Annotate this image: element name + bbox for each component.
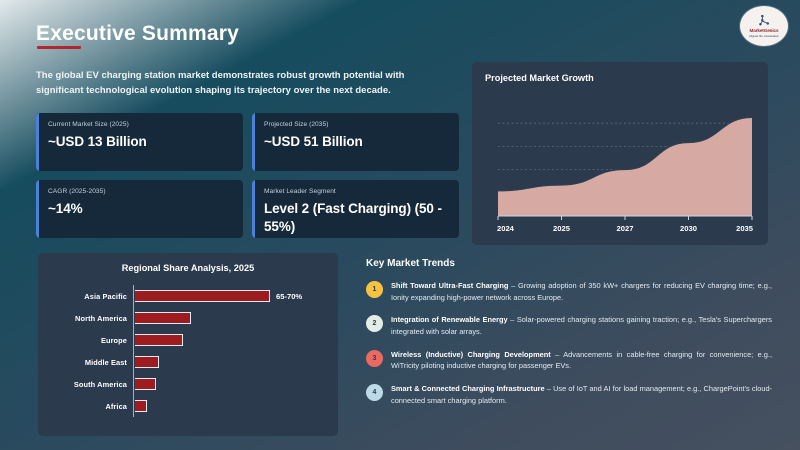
trend-description: Wireless (Inductive) Charging Developmen…: [391, 349, 776, 372]
bar-category-label: South America: [38, 380, 133, 389]
stat-label: CAGR (2025-2035): [48, 188, 233, 195]
key-market-trends: Key Market Trends 1Shift Toward Ultra-Fa…: [366, 258, 776, 418]
trend-heading: Smart & Connected Charging Infrastructur…: [391, 384, 545, 393]
stat-value: ~USD 51 Billion: [264, 133, 449, 151]
stat-label: Market Leader Segment: [264, 188, 449, 195]
bar-track: [134, 334, 338, 346]
stat-label: Projected Size (2035): [264, 121, 449, 128]
bar-fill: [135, 290, 270, 302]
page-title: Executive Summary: [36, 22, 239, 46]
trend-number-badge: 3: [366, 350, 383, 367]
stat-card-cagr: CAGR (2025-2035) ~14%: [36, 180, 243, 238]
trend-number-badge: 2: [366, 315, 383, 332]
stat-card-current-market-size: Current Market Size (2025) ~USD 13 Billi…: [36, 113, 243, 171]
bar-value-label: 65-70%: [276, 292, 302, 301]
bar-category-label: Asia Pacific: [38, 292, 133, 301]
stat-value: ~USD 13 Billion: [48, 133, 233, 151]
trend-item: 4Smart & Connected Charging Infrastructu…: [366, 383, 776, 406]
stat-card-projected-size: Projected Size (2035) ~USD 51 Billion: [252, 113, 459, 171]
stat-label: Current Market Size (2025): [48, 121, 233, 128]
bar-fill: [135, 378, 156, 390]
projected-market-growth-chart: Projected Market Growth 2024202520272030…: [472, 62, 768, 245]
trend-heading: Wireless (Inductive) Charging Developmen…: [391, 350, 551, 359]
stat-card-market-leader-segment: Market Leader Segment Level 2 (Fast Char…: [252, 180, 459, 238]
svg-text:2025: 2025: [553, 224, 571, 233]
bar-category-label: North America: [38, 314, 133, 323]
bar-category-label: Middle East: [38, 358, 133, 367]
trend-list: 1Shift Toward Ultra-Fast Charging – Grow…: [366, 280, 776, 407]
svg-text:2035: 2035: [736, 224, 754, 233]
svg-text:2024: 2024: [497, 224, 515, 233]
bar-track: [134, 312, 338, 324]
bar-track: [134, 400, 338, 412]
trend-item: 1Shift Toward Ultra-Fast Charging – Grow…: [366, 280, 776, 303]
logo-tagline: Aligned. Be. Accelerated.: [749, 34, 779, 38]
bar-fill: [135, 400, 147, 412]
stat-card-row: CAGR (2025-2035) ~14% Market Leader Segm…: [36, 180, 460, 238]
area-chart-svg: 20242025202720302035: [484, 92, 756, 234]
bar-row: North America: [38, 307, 338, 329]
bar-fill: [135, 334, 183, 346]
logo-name: MarketGenics: [750, 28, 779, 33]
trend-description: Smart & Connected Charging Infrastructur…: [391, 383, 776, 406]
trend-item: 2Integration of Renewable Energy – Solar…: [366, 314, 776, 337]
trends-title: Key Market Trends: [366, 258, 776, 269]
area-chart-plot: 20242025202720302035: [484, 92, 756, 234]
regional-share-analysis-chart: Regional Share Analysis, 2025 Asia Pacif…: [38, 253, 338, 436]
trend-number-badge: 1: [366, 281, 383, 298]
trend-heading: Integration of Renewable Energy: [391, 315, 508, 324]
trend-heading: Shift Toward Ultra-Fast Charging: [391, 281, 508, 290]
svg-text:2030: 2030: [680, 224, 697, 233]
page-subtitle: The global EV charging station market de…: [36, 68, 436, 99]
stat-card-grid: Current Market Size (2025) ~USD 13 Billi…: [36, 113, 460, 247]
slide-root: Executive Summary The global EV charging…: [0, 0, 800, 450]
bar-track: [134, 378, 338, 390]
bar-row: Asia Pacific65-70%: [38, 285, 338, 307]
bar-fill: [135, 312, 191, 324]
bar-track: 65-70%: [134, 290, 338, 302]
bar-chart-rows: Asia Pacific65-70%North AmericaEuropeMid…: [38, 285, 338, 417]
stat-value: ~14%: [48, 200, 233, 218]
bar-row: Europe: [38, 329, 338, 351]
stat-value: Level 2 (Fast Charging) (50 - 55%): [264, 200, 449, 236]
bar-row: South America: [38, 373, 338, 395]
trend-number-badge: 4: [366, 384, 383, 401]
trend-item: 3Wireless (Inductive) Charging Developme…: [366, 349, 776, 372]
company-logo: MarketGenics Aligned. Be. Accelerated.: [740, 6, 788, 46]
bar-row: Middle East: [38, 351, 338, 373]
chart-title: Regional Share Analysis, 2025: [38, 263, 338, 273]
bar-track: [134, 356, 338, 368]
trend-description: Shift Toward Ultra-Fast Charging – Growi…: [391, 280, 776, 303]
chart-title: Projected Market Growth: [485, 73, 594, 83]
bar-fill: [135, 356, 159, 368]
bar-row: Africa: [38, 395, 338, 417]
bar-category-label: Africa: [38, 402, 133, 411]
trend-description: Integration of Renewable Energy – Solar-…: [391, 314, 776, 337]
bar-category-label: Europe: [38, 336, 133, 345]
network-nodes-icon: [758, 14, 771, 27]
title-underline: [37, 46, 81, 49]
svg-text:2027: 2027: [617, 224, 634, 233]
stat-card-row: Current Market Size (2025) ~USD 13 Billi…: [36, 113, 460, 171]
